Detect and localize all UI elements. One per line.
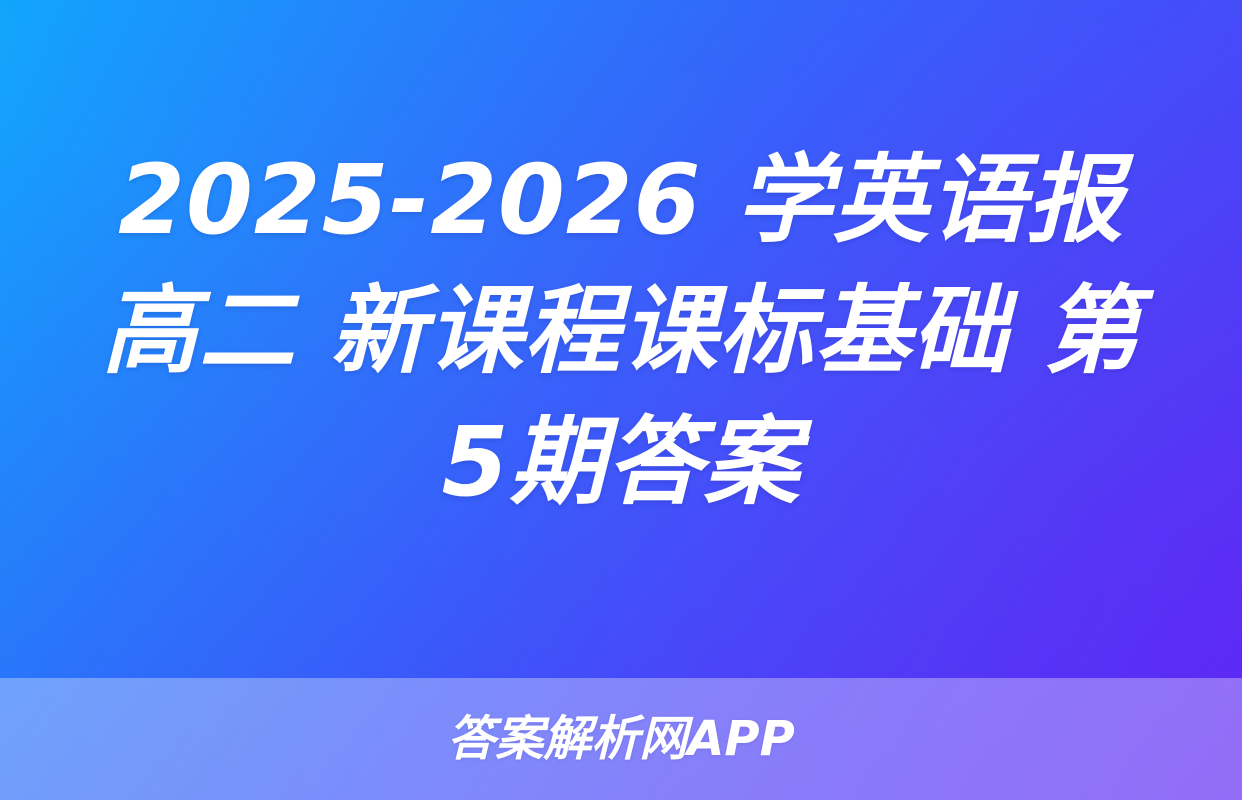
page-title: 2025-2026 学英语报 高二 新课程课标基础 第5期答案: [71, 135, 1171, 528]
title-area: 2025-2026 学英语报 高二 新课程课标基础 第5期答案: [0, 0, 1242, 678]
answer-poster: 2025-2026 学英语报 高二 新课程课标基础 第5期答案 答案解析网APP: [0, 0, 1242, 800]
app-watermark-label: 答案解析网APP: [447, 713, 795, 765]
watermark-band: 答案解析网APP: [0, 678, 1242, 800]
